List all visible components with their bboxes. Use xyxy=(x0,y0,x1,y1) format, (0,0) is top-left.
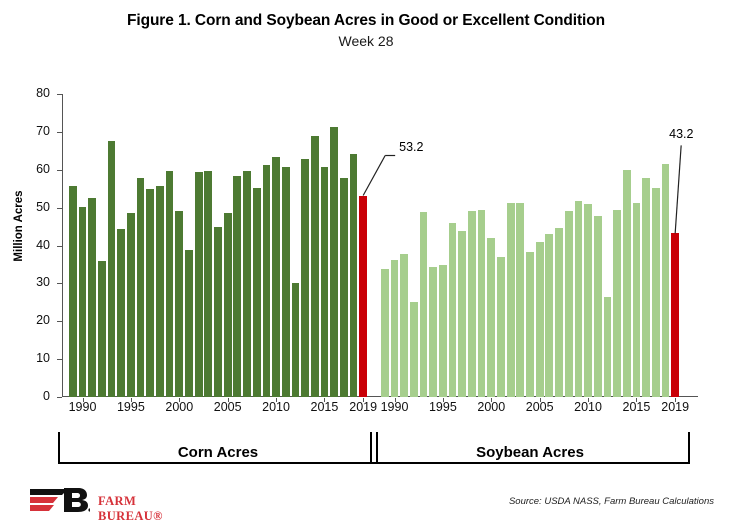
x-tick-label: 2019 xyxy=(652,400,698,414)
bar xyxy=(410,302,418,397)
x-tick xyxy=(443,398,444,402)
bar xyxy=(311,136,319,397)
x-tick-label: 1990 xyxy=(60,400,106,414)
bar xyxy=(79,207,87,397)
x-tick xyxy=(83,398,84,402)
x-tick xyxy=(324,398,325,402)
x-tick xyxy=(276,398,277,402)
bar xyxy=(292,283,300,397)
x-tick-label: 2000 xyxy=(468,400,514,414)
bar xyxy=(282,167,290,397)
page-subtitle: Week 28 xyxy=(0,33,732,49)
farm-bureau-logo: FARM BUREAU® xyxy=(28,486,203,516)
x-tick xyxy=(228,398,229,402)
y-tick-label: 20 xyxy=(10,313,50,327)
y-tick xyxy=(57,170,62,171)
bar xyxy=(195,172,203,397)
bar xyxy=(468,211,476,397)
x-tick xyxy=(675,398,676,402)
bar xyxy=(516,203,524,397)
bar xyxy=(623,170,631,397)
bar xyxy=(381,269,389,397)
bar xyxy=(224,213,232,397)
bar xyxy=(487,238,495,397)
bar xyxy=(400,254,408,397)
bracket-bar xyxy=(58,462,378,464)
y-tick xyxy=(57,208,62,209)
bar xyxy=(604,297,612,397)
y-tick-label: 50 xyxy=(10,200,50,214)
bar xyxy=(478,210,486,397)
y-tick-label: 70 xyxy=(10,124,50,138)
y-axis-title: Million Acres xyxy=(13,160,25,292)
bar xyxy=(69,186,77,397)
x-tick-label: 2005 xyxy=(205,400,251,414)
bar xyxy=(127,213,135,397)
x-tick-label: 1990 xyxy=(372,400,418,414)
bar xyxy=(185,250,193,397)
page-title: Figure 1. Corn and Soybean Acres in Good… xyxy=(0,12,732,30)
x-tick xyxy=(363,398,364,402)
x-tick xyxy=(395,398,396,402)
bar xyxy=(497,257,505,397)
bracket-bar xyxy=(370,462,690,464)
bar xyxy=(662,164,670,397)
y-tick xyxy=(57,359,62,360)
bar xyxy=(359,196,367,397)
y-tick-label: 0 xyxy=(10,389,50,403)
x-tick-label: 2010 xyxy=(253,400,299,414)
bar xyxy=(214,227,222,397)
bar xyxy=(146,189,154,397)
bar xyxy=(391,260,399,397)
y-tick xyxy=(57,94,62,95)
bar xyxy=(584,204,592,397)
y-tick xyxy=(57,321,62,322)
bar xyxy=(652,188,660,397)
bar xyxy=(156,186,164,397)
source-note: Source: USDA NASS, Farm Bureau Calculati… xyxy=(509,496,714,507)
bar xyxy=(555,228,563,397)
y-tick xyxy=(57,283,62,284)
y-tick-label: 40 xyxy=(10,238,50,252)
bar xyxy=(108,141,116,397)
bar xyxy=(613,210,621,397)
y-tick-label: 30 xyxy=(10,275,50,289)
y-tick xyxy=(57,397,62,398)
bar xyxy=(633,203,641,397)
y-tick-label: 10 xyxy=(10,351,50,365)
corn-group-bracket: Corn Acres xyxy=(58,432,378,468)
bar xyxy=(272,157,280,397)
farm-bureau-wordmark: FARM BUREAU® xyxy=(98,494,203,524)
bar xyxy=(526,252,534,397)
bar xyxy=(420,212,428,397)
soybean-bar-series xyxy=(380,94,680,397)
y-tick xyxy=(57,246,62,247)
bar xyxy=(301,159,309,397)
y-tick xyxy=(57,132,62,133)
bar xyxy=(545,234,553,397)
bar xyxy=(439,265,447,397)
x-tick xyxy=(588,398,589,402)
bar xyxy=(117,229,125,397)
bar xyxy=(536,242,544,397)
bar xyxy=(565,211,573,397)
bar xyxy=(88,198,96,397)
x-tick xyxy=(179,398,180,402)
x-tick xyxy=(636,398,637,402)
x-tick xyxy=(131,398,132,402)
bar xyxy=(350,154,358,397)
plot-area: 0102030405060708019901995200020052010201… xyxy=(62,94,698,397)
bar xyxy=(98,261,106,397)
bar xyxy=(321,167,329,397)
fb-logo-mark xyxy=(28,486,90,514)
bar xyxy=(671,233,679,397)
bar xyxy=(233,176,241,397)
x-tick xyxy=(540,398,541,402)
bar xyxy=(642,178,650,397)
bar xyxy=(204,171,212,397)
bar xyxy=(166,171,174,397)
bar xyxy=(575,201,583,397)
y-axis-line xyxy=(62,94,63,397)
bar xyxy=(507,203,515,397)
bar xyxy=(429,267,437,397)
bar xyxy=(253,188,261,397)
x-tick-label: 2000 xyxy=(156,400,202,414)
bar xyxy=(449,223,457,397)
y-tick-label: 80 xyxy=(10,86,50,100)
bar xyxy=(263,165,271,397)
bar xyxy=(175,211,183,397)
x-tick-label: 2010 xyxy=(565,400,611,414)
bar xyxy=(458,231,466,397)
corn-bar-series xyxy=(68,94,368,397)
bar xyxy=(330,127,338,397)
soybean-group-label: Soybean Acres xyxy=(370,444,690,461)
bar xyxy=(340,178,348,397)
x-tick-label: 1995 xyxy=(420,400,466,414)
bar xyxy=(137,178,145,397)
x-tick-label: 1995 xyxy=(108,400,154,414)
soybean-value-callout: 43.2 xyxy=(669,127,693,141)
x-tick xyxy=(491,398,492,402)
x-tick-label: 2005 xyxy=(517,400,563,414)
y-tick-label: 60 xyxy=(10,162,50,176)
corn-group-label: Corn Acres xyxy=(58,444,378,461)
bar xyxy=(594,216,602,397)
chart-page: Figure 1. Corn and Soybean Acres in Good… xyxy=(0,0,732,522)
bar xyxy=(243,171,251,397)
soybean-group-bracket: Soybean Acres xyxy=(370,432,690,468)
